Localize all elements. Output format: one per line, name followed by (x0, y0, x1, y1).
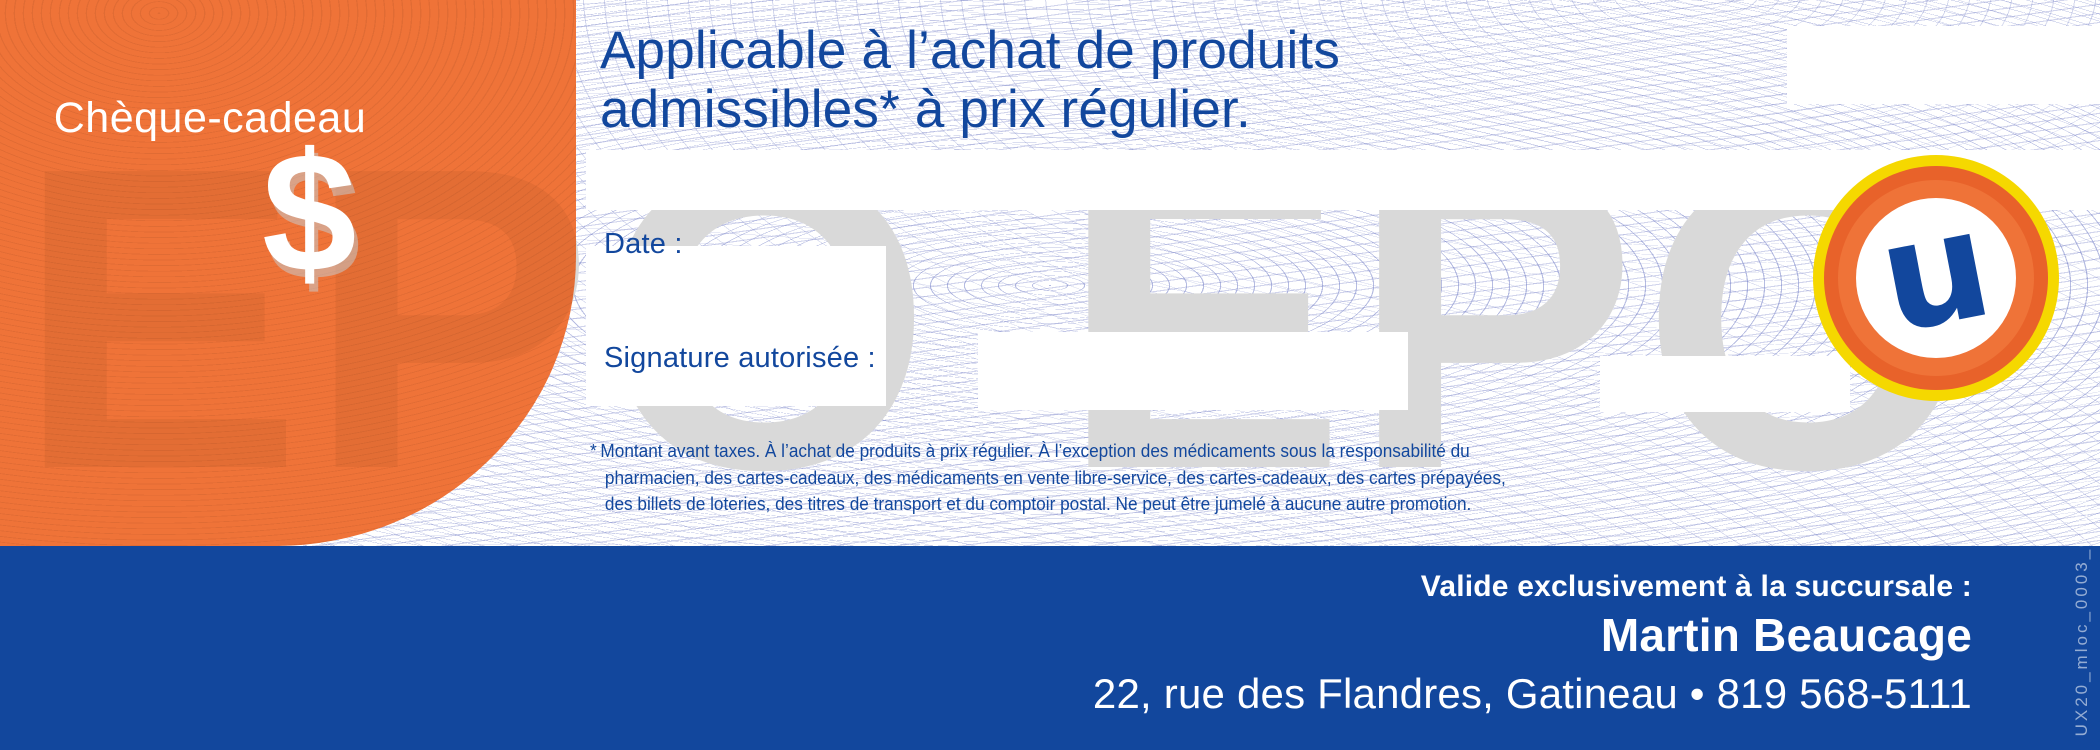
white-block-top-right (1787, 26, 2100, 104)
fineprint-disclaimer: *Montant avant taxes. À l’achat de produ… (590, 438, 1641, 518)
white-block-date-area (586, 246, 886, 406)
dollar-symbol: $ (262, 128, 357, 298)
white-block-signature-area (978, 332, 1408, 410)
fineprint-line-2: pharmacien, des cartes-cadeaux, des médi… (590, 465, 1641, 492)
white-block-mid-right (1600, 356, 1850, 412)
headline-line-1: Applicable à l’achat de produits (600, 22, 1780, 81)
footer-address: 22, rue des Flandres, Gatineau • 819 568… (1093, 670, 1972, 718)
uniprix-logo-icon: u (1813, 155, 2059, 401)
gift-certificate-voucher: EPO EPO EPO EPO EPO EPO $ Chèque-cadeau … (0, 0, 2100, 750)
headline: Applicable à l’achat de produits admissi… (600, 22, 1780, 140)
footer-valid-label: Valide exclusivement à la succursale : (1421, 570, 1972, 604)
logo-inner-circle: u (1856, 198, 2016, 358)
fineprint-asterisk: * (590, 440, 597, 461)
logo-orange-ring-inner: u (1838, 180, 2034, 376)
logo-orange-ring-outer: u (1824, 166, 2048, 390)
cheque-cadeau-title: Chèque-cadeau (0, 94, 420, 143)
signature-label[interactable]: Signature autorisée : (604, 342, 876, 375)
fineprint-line-1: *Montant avant taxes. À l’achat de produ… (590, 438, 1641, 465)
fineprint-line-1-text: Montant avant taxes. À l’achat de produi… (600, 440, 1469, 461)
document-code: UX20_mloc_0003_0013 (2072, 497, 2092, 736)
footer-band: Valide exclusivement à la succursale : M… (0, 546, 2100, 750)
footer-store-name: Martin Beaucage (1601, 608, 1972, 662)
date-label[interactable]: Date : (604, 228, 683, 261)
fineprint-line-3: des billets de loteries, des titres de t… (590, 491, 1641, 518)
logo-u-glyph: u (1868, 198, 2001, 356)
headline-line-2: admissibles* à prix régulier. (600, 81, 1780, 140)
